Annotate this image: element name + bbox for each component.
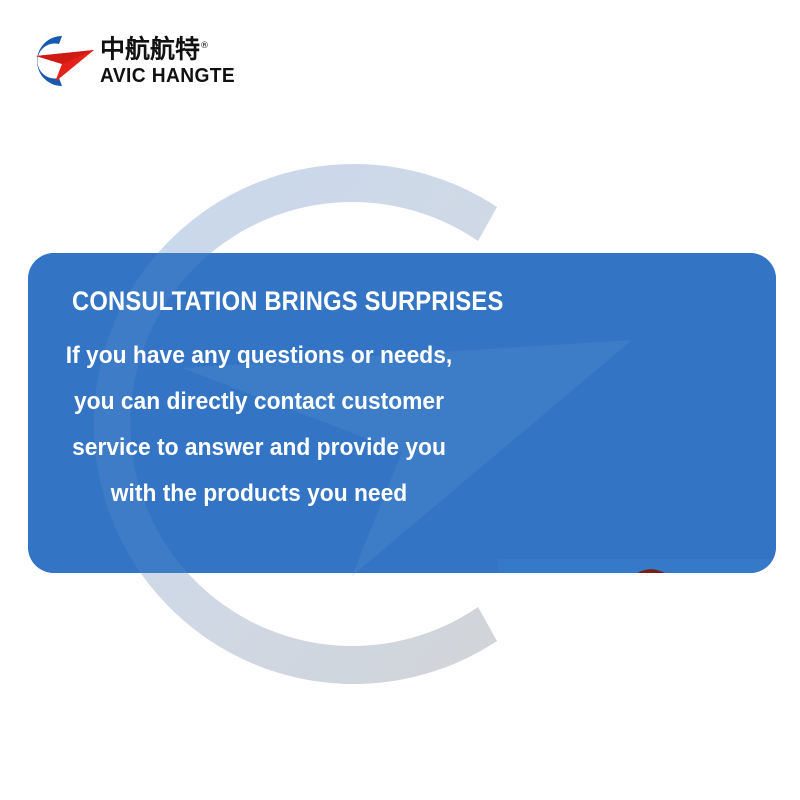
card-text-block: CONSULTATION BRINGS SURPRISES If you hav…: [28, 253, 488, 573]
card-body-text: If you have any questions or needs, you …: [60, 333, 457, 517]
card-title: CONSULTATION BRINGS SURPRISES: [72, 286, 503, 317]
brand-logo: 中航航特® AVIC HANGTE: [22, 30, 222, 100]
logo-english-name: AVIC HANGTE: [100, 64, 223, 88]
customer-service-illustration: [498, 559, 776, 573]
logo-chinese-name: 中航航特®: [100, 32, 228, 63]
logo-chinese-text: 中航航特: [100, 34, 200, 63]
consultation-card: CONSULTATION BRINGS SURPRISES If you hav…: [28, 253, 776, 573]
registered-trademark-icon: ®: [200, 41, 209, 51]
logo-wordmark: 中航航特® AVIC HANGTE: [100, 32, 228, 88]
avic-hangte-logo-mark: [22, 30, 98, 92]
